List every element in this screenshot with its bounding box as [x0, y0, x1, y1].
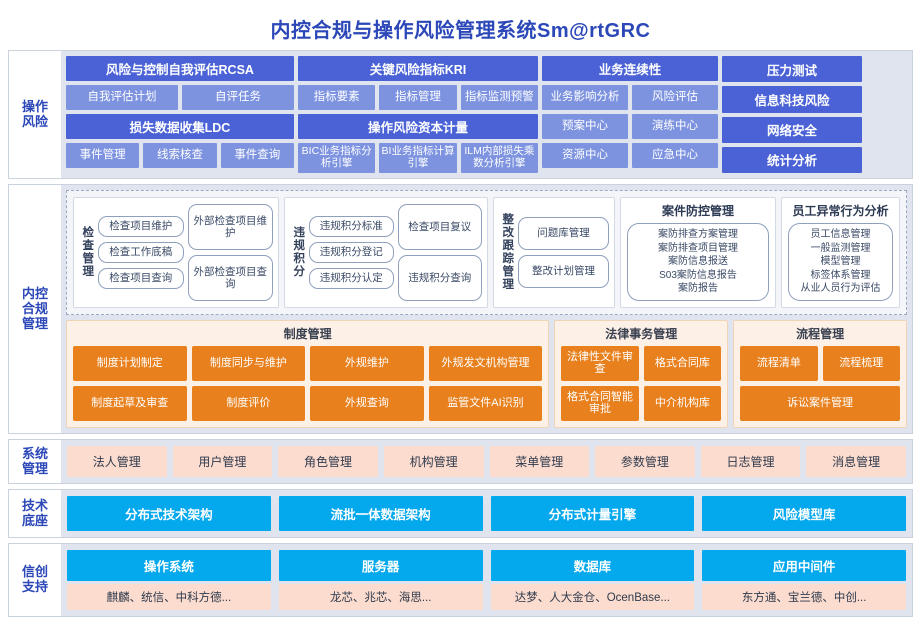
tech-base-body: 分布式技术架构 流批一体数据架构 分布式计量引擎 风险模型库	[61, 490, 912, 537]
panel-rectification-tracking: 整改跟踪管理 问题库管理 整改计划管理	[493, 197, 615, 308]
block-header-ldc[interactable]: 损失数据收集LDC	[66, 114, 294, 139]
block-header-kri[interactable]: 关键风险指标KRI	[298, 56, 538, 81]
case-prevention-item-4: 案防报告	[634, 282, 762, 296]
cell-kri-1[interactable]: 指标管理	[379, 85, 456, 110]
pill-violation-1-2[interactable]: 违规积分认定	[309, 268, 394, 289]
case-prevention-item-3: S03案防信息报告	[634, 269, 762, 283]
process-mgmt-grid: 流程清单 流程梳理 诉讼案件管理	[740, 346, 900, 422]
panel-label-violation: 违规积分	[290, 226, 305, 278]
employee-behavior-item-1: 一般监测管理	[795, 242, 886, 256]
sys-label-line1: 系统	[22, 447, 48, 462]
employee-behavior-items[interactable]: 员工信息管理 一般监测管理 模型管理 标签体系管理 从业人员行为评估	[788, 223, 893, 301]
pill-inspection-1-1[interactable]: 检查工作底稿	[98, 242, 184, 263]
block-header-bcm[interactable]: 业务连续性	[542, 56, 718, 81]
cell-ldc-2[interactable]: 事件查询	[221, 143, 294, 168]
tech-label-line1: 技术	[22, 499, 48, 514]
cell-kri-0[interactable]: 指标要素	[298, 85, 375, 110]
pill-violation-2-1[interactable]: 违规积分查询	[398, 255, 483, 301]
btn-process-0[interactable]: 流程清单	[740, 346, 817, 381]
tech-item-1[interactable]: 流批一体数据架构	[279, 496, 483, 531]
section-tech-base: 技术 底座 分布式技术架构 流批一体数据架构 分布式计量引擎 风险模型库	[8, 489, 913, 538]
section-label-xinchuang: 信创 支持	[9, 544, 61, 616]
panel-label-rectification: 整改跟踪管理	[499, 213, 514, 291]
page-title-bar: 内控合规与操作风险管理系统Sm@rtGRC	[8, 6, 913, 50]
module-it-risk[interactable]: 信息科技风险	[722, 86, 862, 112]
violation-col-2: 检查项目复议 违规积分查询	[398, 204, 483, 301]
row-bcm-3: 资源中心 应急中心	[542, 143, 718, 168]
btn-institution-2[interactable]: 外规维护	[310, 346, 424, 381]
cell-kri-2[interactable]: 指标监测预警	[461, 85, 538, 110]
row-bcm-2: 预案中心 演练中心	[542, 114, 718, 139]
op-risk-label-line2: 风险	[22, 115, 48, 130]
btn-institution-5[interactable]: 制度评价	[192, 386, 306, 421]
xinchuang-col-middleware: 应用中间件 东方通、宝兰德、中创...	[702, 550, 906, 610]
section-xinchuang-support: 信创 支持 操作系统 麒麟、统信、中科方德... 服务器 龙芯、兆芯、海思...…	[8, 543, 913, 617]
sys-item-2[interactable]: 角色管理	[278, 446, 378, 477]
xc-sub-2: 达梦、人大金仓、OcenBase...	[491, 584, 695, 610]
xc-head-0[interactable]: 操作系统	[67, 550, 271, 581]
case-prevention-item-0: 案防排查方案管理	[634, 228, 762, 242]
cell-ldc-0[interactable]: 事件管理	[66, 143, 139, 168]
panel-label-inspection: 检查管理	[79, 226, 94, 278]
box-title-process-mgmt: 流程管理	[740, 325, 900, 342]
btn-institution-6[interactable]: 外规查询	[310, 386, 424, 421]
tech-item-0[interactable]: 分布式技术架构	[67, 496, 271, 531]
block-header-rcsa[interactable]: 风险与控制自我评估RCSA	[66, 56, 294, 81]
box-title-institution-mgmt: 制度管理	[73, 325, 542, 342]
operational-risk-body: 风险与控制自我评估RCSA 自我评估计划 自评任务 损失数据收集LDC 事件管理…	[61, 51, 912, 178]
pill-violation-1-1[interactable]: 违规积分登记	[309, 242, 394, 263]
pill-rectification-0[interactable]: 问题库管理	[518, 217, 609, 250]
employee-behavior-item-0: 员工信息管理	[795, 228, 886, 242]
row-ldc-items: 事件管理 线索核查 事件查询	[66, 143, 294, 168]
panel-title-case-prevention: 案件防控管理	[662, 202, 734, 219]
xc-head-2[interactable]: 数据库	[491, 550, 695, 581]
module-stress-test[interactable]: 压力测试	[722, 56, 862, 82]
block-header-op-capital[interactable]: 操作风险资本计量	[298, 114, 538, 139]
btn-institution-3[interactable]: 外规发文机构管理	[429, 346, 543, 381]
violation-col-1: 违规积分标准 违规积分登记 违规积分认定	[309, 216, 394, 289]
cell-ldc-1[interactable]: 线索核查	[143, 143, 216, 168]
xc-label-line2: 支持	[22, 580, 48, 595]
panel-title-employee-behavior: 员工异常行为分析	[792, 202, 888, 219]
sys-item-5[interactable]: 参数管理	[595, 446, 695, 477]
internal-control-body: 检查管理 检查项目维护 检查工作底稿 检查项目查询 外部检查项目维护 外部检查项…	[61, 185, 912, 433]
xc-label-line1: 信创	[22, 565, 48, 580]
pill-inspection-1-0[interactable]: 检查项目维护	[98, 216, 184, 237]
box-title-legal-affairs: 法律事务管理	[561, 325, 721, 342]
pill-inspection-1-2[interactable]: 检查项目查询	[98, 268, 184, 289]
cell-bcm-0[interactable]: 业务影响分析	[542, 85, 628, 110]
section-system-management: 系统 管理 法人管理 用户管理 角色管理 机构管理 菜单管理 参数管理 日志管理…	[8, 439, 913, 484]
institution-mgmt-grid: 制度计划制定 制度同步与维护 外规维护 外规发文机构管理 制度起草及审查 制度评…	[73, 346, 542, 422]
xinchuang-row: 操作系统 麒麟、统信、中科方德... 服务器 龙芯、兆芯、海思... 数据库 达…	[67, 550, 906, 610]
employee-behavior-item-2: 模型管理	[795, 255, 886, 269]
cell-bcm-2[interactable]: 预案中心	[542, 114, 628, 139]
xinchuang-col-database: 数据库 达梦、人大金仓、OcenBase...	[491, 550, 695, 610]
system-management-body: 法人管理 用户管理 角色管理 机构管理 菜单管理 参数管理 日志管理 消息管理	[61, 440, 912, 483]
case-prevention-items[interactable]: 案防排查方案管理 案防排查项目管理 案防信息报送 S03案防信息报告 案防报告	[627, 223, 769, 301]
ic-label-line1: 内控	[22, 287, 48, 302]
btn-legal-2[interactable]: 格式合同智能审批	[561, 386, 638, 421]
page-title: 内控合规与操作风险管理系统Sm@rtGRC	[270, 14, 650, 43]
cell-bcm-5[interactable]: 应急中心	[632, 143, 718, 168]
btn-legal-3[interactable]: 中介机构库	[644, 386, 721, 421]
system-management-row: 法人管理 用户管理 角色管理 机构管理 菜单管理 参数管理 日志管理 消息管理	[67, 446, 906, 477]
sys-item-1[interactable]: 用户管理	[173, 446, 273, 477]
tech-base-row: 分布式技术架构 流批一体数据架构 分布式计量引擎 风险模型库	[67, 496, 906, 531]
sys-item-0[interactable]: 法人管理	[67, 446, 167, 477]
section-label-operational-risk: 操作 风险	[9, 51, 61, 178]
rectification-items: 问题库管理 整改计划管理	[518, 217, 609, 288]
btn-institution-7[interactable]: 监管文件AI识别	[429, 386, 543, 421]
btn-process-1[interactable]: 流程梳理	[823, 346, 900, 381]
inspection-col-1: 检查项目维护 检查工作底稿 检查项目查询	[98, 216, 184, 289]
diagram-root: 内控合规与操作风险管理系统Sm@rtGRC 操作 风险 风险与控制自我评估RCS…	[0, 0, 921, 640]
section-label-system-management: 系统 管理	[9, 440, 61, 483]
pill-violation-1-0[interactable]: 违规积分标准	[309, 216, 394, 237]
inspection-col-2: 外部检查项目维护 外部检查项目查询	[188, 204, 274, 301]
column-kri-capital: 关键风险指标KRI 指标要素 指标管理 指标监测预警 操作风险资本计量 BIC业…	[298, 56, 538, 173]
column-standalone-modules: 压力测试 信息科技风险 网络安全 统计分析	[722, 56, 862, 173]
sys-label-line2: 管理	[22, 462, 48, 477]
xc-head-3[interactable]: 应用中间件	[702, 550, 906, 581]
sys-item-6[interactable]: 日志管理	[701, 446, 801, 477]
case-prevention-item-1: 案防排查项目管理	[634, 242, 762, 256]
section-internal-control: 内控 合规 管理 检查管理 检查项目维护 检查工作底稿 检查项目查询 外部检查项…	[8, 184, 913, 434]
section-label-tech-base: 技术 底座	[9, 490, 61, 537]
box-process-mgmt: 流程管理 流程清单 流程梳理 诉讼案件管理	[733, 320, 907, 429]
section-label-internal-control: 内控 合规 管理	[9, 185, 61, 433]
pill-inspection-2-1[interactable]: 外部检查项目查询	[188, 255, 274, 301]
sys-item-3[interactable]: 机构管理	[384, 446, 484, 477]
row-bcm-1: 业务影响分析 风险评估	[542, 85, 718, 110]
cell-opcap-1[interactable]: BI业务指标计算引擎	[379, 143, 456, 173]
cell-bcm-4[interactable]: 资源中心	[542, 143, 628, 168]
row-kri-items: 指标要素 指标管理 指标监测预警	[298, 85, 538, 110]
pill-rectification-1[interactable]: 整改计划管理	[518, 255, 609, 288]
ic-label-line3: 管理	[22, 317, 48, 332]
internal-control-upper-group: 检查管理 检查项目维护 检查工作底稿 检查项目查询 外部检查项目维护 外部检查项…	[66, 190, 907, 315]
btn-process-2[interactable]: 诉讼案件管理	[740, 386, 900, 421]
section-operational-risk: 操作 风险 风险与控制自我评估RCSA 自我评估计划 自评任务 损失数据收集LD…	[8, 50, 913, 179]
box-institution-mgmt: 制度管理 制度计划制定 制度同步与维护 外规维护 外规发文机构管理 制度起草及审…	[66, 320, 549, 429]
xc-sub-0: 麒麟、统信、中科方德...	[67, 584, 271, 610]
btn-legal-0[interactable]: 法律性文件审查	[561, 346, 638, 381]
employee-behavior-item-4: 从业人员行为评估	[795, 282, 886, 296]
employee-behavior-item-3: 标签体系管理	[795, 269, 886, 283]
ic-label-line2: 合规	[22, 302, 48, 317]
tech-item-2[interactable]: 分布式计量引擎	[491, 496, 695, 531]
sys-item-4[interactable]: 菜单管理	[490, 446, 590, 477]
pill-violation-2-0[interactable]: 检查项目复议	[398, 204, 483, 250]
column-business-continuity: 业务连续性 业务影响分析 风险评估 预案中心 演练中心 资源中心 应急中心	[542, 56, 718, 173]
xinchuang-col-os: 操作系统 麒麟、统信、中科方德...	[67, 550, 271, 610]
panel-inspection-mgmt: 检查管理 检查项目维护 检查工作底稿 检查项目查询 外部检查项目维护 外部检查项…	[73, 197, 279, 308]
btn-institution-4[interactable]: 制度起草及审查	[73, 386, 187, 421]
cell-opcap-0[interactable]: BIC业务指标分析引擎	[298, 143, 375, 173]
legal-affairs-grid: 法律性文件审查 格式合同库 格式合同智能审批 中介机构库	[561, 346, 721, 422]
xc-sub-1: 龙芯、兆芯、海思...	[279, 584, 483, 610]
panel-case-prevention: 案件防控管理 案防排查方案管理 案防排查项目管理 案防信息报送 S03案防信息报…	[620, 197, 776, 308]
column-rcsa-ldc: 风险与控制自我评估RCSA 自我评估计划 自评任务 损失数据收集LDC 事件管理…	[66, 56, 294, 173]
cell-bcm-3[interactable]: 演练中心	[632, 114, 718, 139]
module-network-security[interactable]: 网络安全	[722, 117, 862, 143]
tech-label-line2: 底座	[22, 514, 48, 529]
sys-item-7[interactable]: 消息管理	[806, 446, 906, 477]
xinchuang-body: 操作系统 麒麟、统信、中科方德... 服务器 龙芯、兆芯、海思... 数据库 达…	[61, 544, 912, 616]
xc-head-1[interactable]: 服务器	[279, 550, 483, 581]
internal-control-lower-group: 制度管理 制度计划制定 制度同步与维护 外规维护 外规发文机构管理 制度起草及审…	[66, 320, 907, 429]
btn-legal-1[interactable]: 格式合同库	[644, 346, 721, 381]
cell-rcsa-0[interactable]: 自我评估计划	[66, 85, 178, 110]
xc-sub-3: 东方通、宝兰德、中创...	[702, 584, 906, 610]
btn-institution-1[interactable]: 制度同步与维护	[192, 346, 306, 381]
cell-rcsa-1[interactable]: 自评任务	[182, 85, 294, 110]
op-risk-label-line1: 操作	[22, 100, 48, 115]
pill-inspection-2-0[interactable]: 外部检查项目维护	[188, 204, 274, 250]
tech-item-3[interactable]: 风险模型库	[702, 496, 906, 531]
xinchuang-col-server: 服务器 龙芯、兆芯、海思...	[279, 550, 483, 610]
row-rcsa-items: 自我评估计划 自评任务	[66, 85, 294, 110]
panel-employee-behavior: 员工异常行为分析 员工信息管理 一般监测管理 模型管理 标签体系管理 从业人员行…	[781, 197, 900, 308]
case-prevention-item-2: 案防信息报送	[634, 255, 762, 269]
box-legal-affairs: 法律事务管理 法律性文件审查 格式合同库 格式合同智能审批 中介机构库	[554, 320, 728, 429]
cell-bcm-1[interactable]: 风险评估	[632, 85, 718, 110]
module-statistics-analysis[interactable]: 统计分析	[722, 147, 862, 173]
btn-institution-0[interactable]: 制度计划制定	[73, 346, 187, 381]
row-op-capital-items: BIC业务指标分析引擎 BI业务指标计算引擎 ILM内部损失乘数分析引擎	[298, 143, 538, 173]
cell-opcap-2[interactable]: ILM内部损失乘数分析引擎	[461, 143, 538, 173]
panel-violation-points: 违规积分 违规积分标准 违规积分登记 违规积分认定 检查项目复议 违规积分查询	[284, 197, 488, 308]
